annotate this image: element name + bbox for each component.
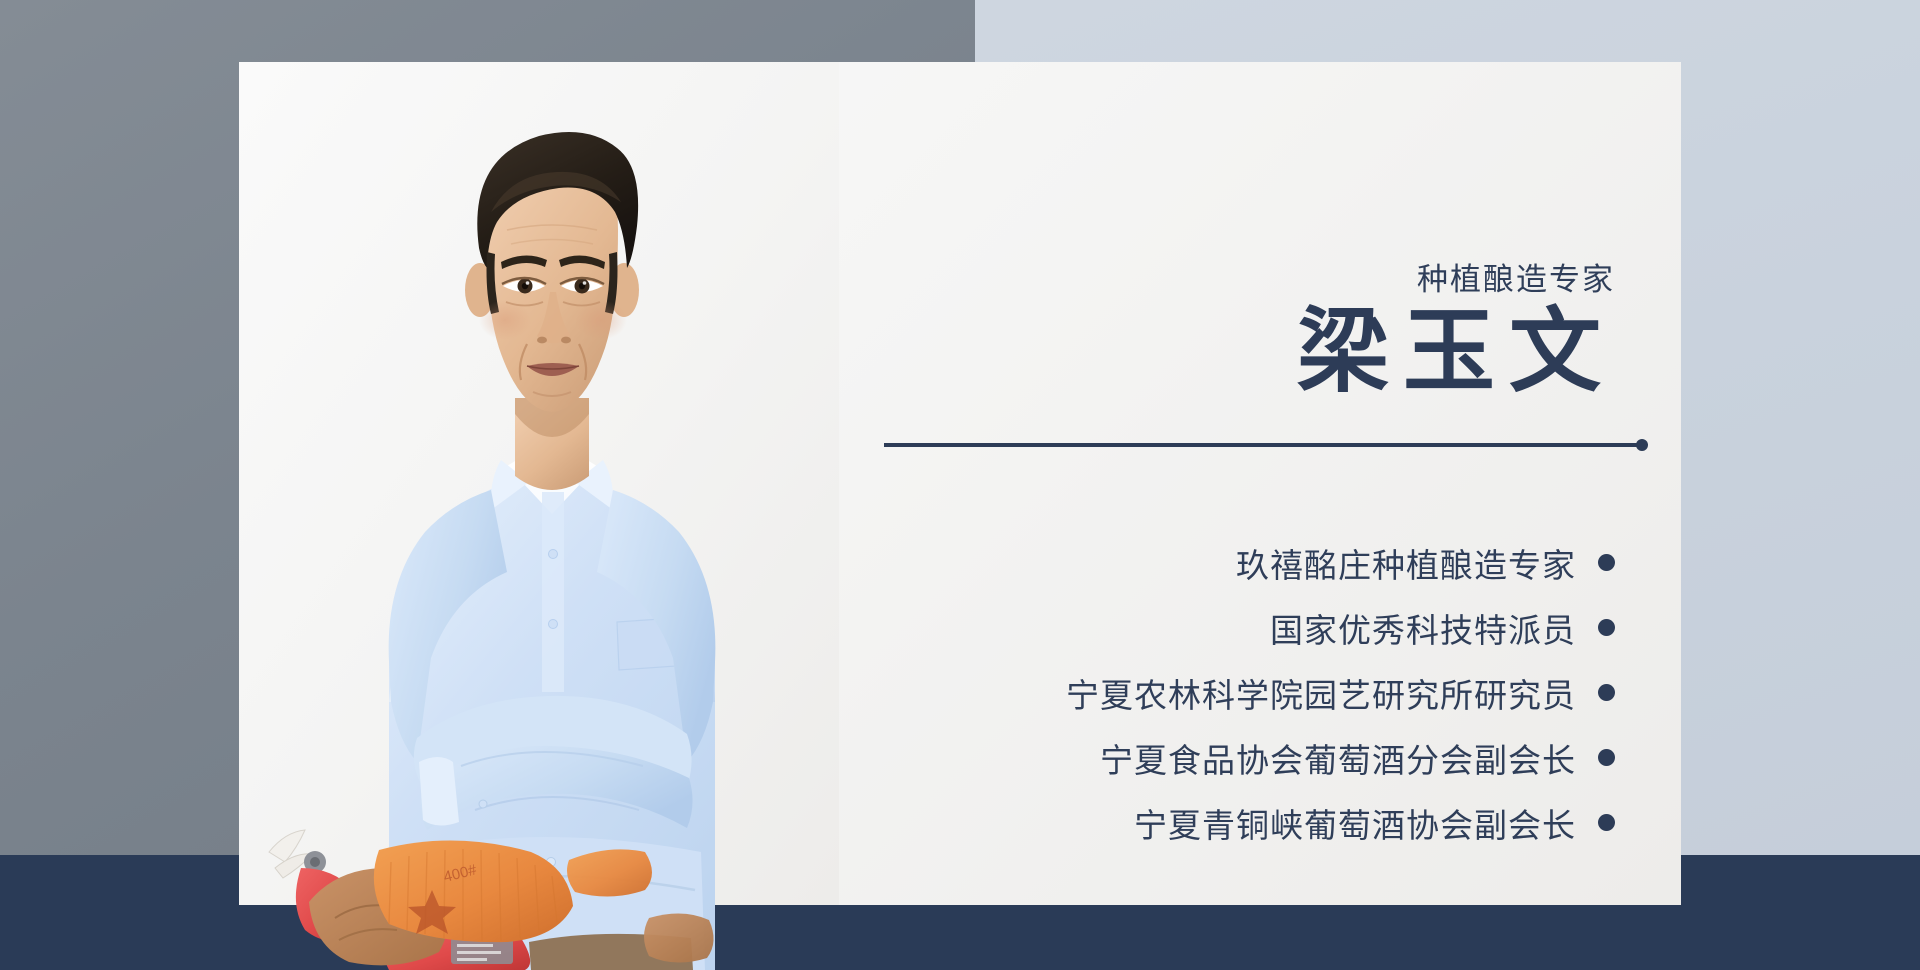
credential-label: 宁夏农林科学院园艺研究所研究员 [1066,669,1576,717]
profile-subtitle: 种植酿造专家 [1417,254,1615,299]
bullet-dot-icon [1598,749,1615,766]
credential-label: 国家优秀科技特派员 [1270,604,1576,652]
poster-stage: 种植酿造专家 梁玉文 玖禧酩庄种植酿造专家 国家优秀科技特派员 宁夏农林科学院园… [0,0,1920,970]
title-divider-line [884,443,1642,447]
divider-end-dot [1636,439,1648,451]
bullet-dot-icon [1598,684,1615,701]
list-item: 宁夏青铜峡葡萄酒协会副会长 [1055,790,1615,855]
profile-info-column: 种植酿造专家 梁玉文 玖禧酩庄种植酿造专家 国家优秀科技特派员 宁夏农林科学院园… [1079,62,1681,905]
credential-label: 宁夏青铜峡葡萄酒协会副会长 [1134,799,1576,847]
profile-name: 梁玉文 [1283,304,1615,401]
credential-label: 玖禧酩庄种植酿造专家 [1236,539,1576,587]
bullet-dot-icon [1598,814,1615,831]
list-item: 国家优秀科技特派员 [1055,595,1615,660]
bullet-dot-icon [1598,619,1615,636]
credential-label: 宁夏食品协会葡萄酒分会副会长 [1100,734,1576,782]
list-item: 玖禧酩庄种植酿造专家 [1055,530,1615,595]
credentials-list: 玖禧酩庄种植酿造专家 国家优秀科技特派员 宁夏农林科学院园艺研究所研究员 宁夏食… [1055,530,1615,855]
list-item: 宁夏农林科学院园艺研究所研究员 [1055,660,1615,725]
list-item: 宁夏食品协会葡萄酒分会副会长 [1055,725,1615,790]
profile-card: 种植酿造专家 梁玉文 玖禧酩庄种植酿造专家 国家优秀科技特派员 宁夏农林科学院园… [239,62,1681,905]
bullet-dot-icon [1598,554,1615,571]
